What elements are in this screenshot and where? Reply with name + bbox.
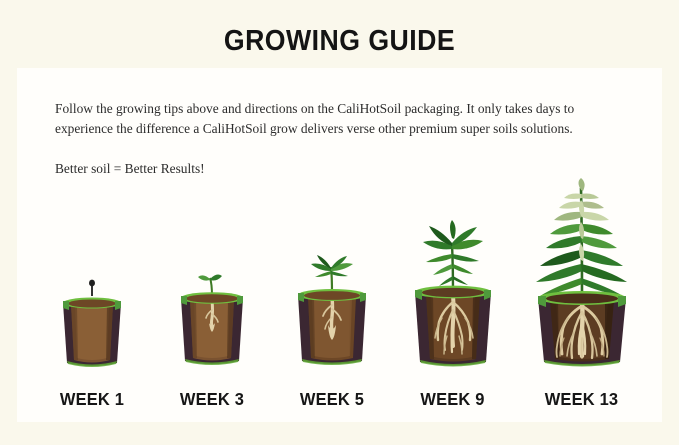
pot-icon (415, 286, 491, 367)
cola-icon (536, 178, 627, 296)
pot-icon (538, 291, 626, 367)
pot-icon (181, 292, 243, 365)
stage-week-9: WEEK 9 (385, 168, 520, 418)
pot-icon (298, 289, 366, 365)
stage-label-week-1: WEEK 1 (31, 389, 153, 410)
stage-label-week-3: WEEK 3 (151, 389, 273, 410)
intro-paragraph: Follow the growing tips above and direct… (55, 99, 635, 139)
stage-art-week-13 (509, 180, 654, 370)
stage-label-week-9: WEEK 9 (389, 389, 516, 410)
growing-guide-page: GROWING GUIDE Follow the growing tips ab… (0, 0, 679, 445)
page-title: GROWING GUIDE (27, 24, 652, 58)
stage-week-13: WEEK 13 (509, 168, 654, 418)
stage-week-5: WEEK 5 (267, 168, 397, 418)
pot-icon (63, 298, 121, 368)
stage-label-week-5: WEEK 5 (271, 389, 393, 410)
plant-icon (423, 220, 483, 290)
stage-art-week-3 (147, 180, 277, 370)
stage-week-1: WEEK 1 (27, 168, 157, 418)
stage-art-week-1 (27, 180, 157, 370)
stage-label-week-13: WEEK 13 (513, 389, 649, 410)
plant-icon (311, 255, 353, 293)
content-card: Follow the growing tips above and direct… (17, 68, 662, 422)
growth-stages: WEEK 1 (17, 168, 662, 418)
body-copy: Follow the growing tips above and direct… (55, 99, 635, 179)
stage-art-week-5 (267, 180, 397, 370)
stage-week-3: WEEK 3 (147, 168, 277, 418)
sprout-icon (89, 280, 95, 296)
stage-art-week-9 (385, 180, 520, 370)
